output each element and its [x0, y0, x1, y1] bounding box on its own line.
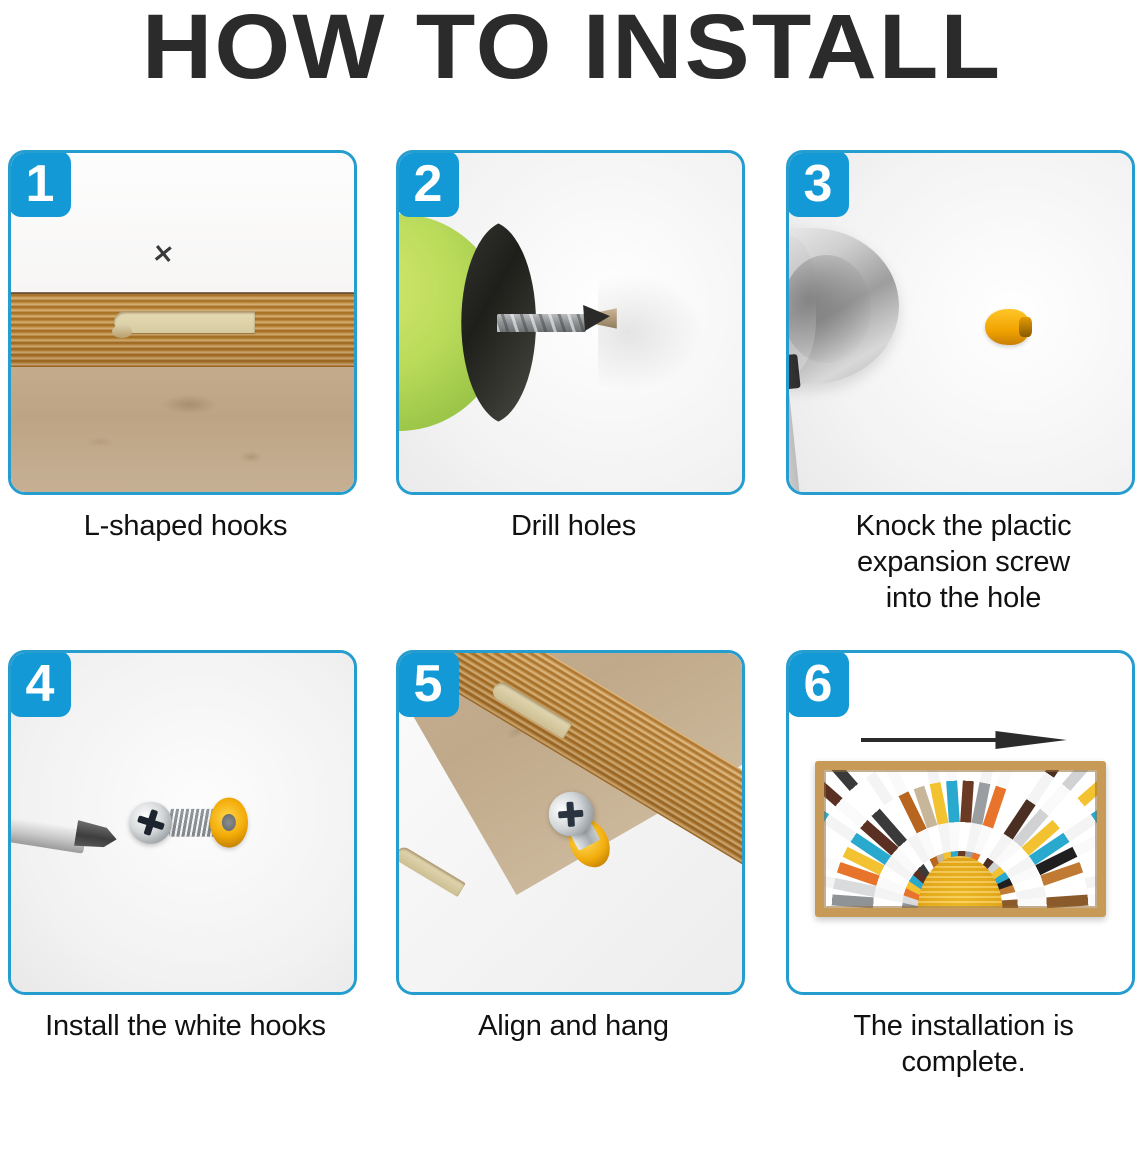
- phillips-cross-icon: [134, 806, 167, 839]
- yellow-wall-anchor-icon: [210, 797, 248, 848]
- step-badge-6: 6: [787, 651, 849, 717]
- step-panel-3: 3: [786, 150, 1135, 495]
- step-card-3: 3 Knock the plactic expansion screw into…: [786, 150, 1141, 617]
- step-caption-4: Install the white hooks: [8, 1009, 363, 1045]
- frame-backboard: [11, 367, 354, 492]
- step-caption-1: L-shaped hooks: [8, 509, 363, 545]
- step-badge-1: 1: [9, 151, 71, 217]
- step-badge-3: 3: [787, 151, 849, 217]
- step-card-5: 5 Align and hang: [396, 650, 751, 1045]
- caption-line: complete.: [786, 1045, 1141, 1081]
- x-mark-icon: ×: [150, 237, 176, 270]
- step-card-4: 4 Install the white hooks: [8, 650, 363, 1045]
- how-to-install-infographic: HOW TO INSTALL × 1 L-shaped hooks: [0, 0, 1144, 1082]
- step-badge-4: 4: [9, 651, 71, 717]
- drill-shadow: [598, 275, 701, 390]
- drill-bit-tip: [583, 303, 611, 331]
- step-caption-2: Drill holes: [396, 509, 751, 545]
- steps-row-1: × 1 L-shaped hooks: [0, 150, 1144, 650]
- steps-grid: × 1 L-shaped hooks: [0, 150, 1144, 1150]
- step-caption-5: Align and hang: [396, 1009, 751, 1045]
- step-card-2: 2 Drill holes: [396, 150, 751, 545]
- caption-line: into the hole: [786, 581, 1141, 617]
- step-badge-5: 5: [397, 651, 459, 717]
- caption-line: expansion screw: [786, 545, 1141, 581]
- step-panel-2: 2: [396, 150, 745, 495]
- step-card-6: 6 The installation is complete.: [786, 650, 1141, 1081]
- caption-line: The installation is: [786, 1009, 1141, 1045]
- step-card-1: × 1 L-shaped hooks: [8, 150, 363, 545]
- yellow-wall-anchor-icon: [985, 309, 1030, 345]
- direction-arrow-icon: [861, 729, 1067, 751]
- step-panel-5: 5: [396, 650, 745, 995]
- drill-bit-icon: [497, 314, 586, 332]
- screw-head-icon: [129, 801, 172, 843]
- framed-sunburst-artwork: [815, 761, 1107, 917]
- keyhole-slot: [114, 311, 255, 333]
- step-caption-6: The installation is complete.: [786, 1009, 1141, 1081]
- step-badge-2: 2: [397, 151, 459, 217]
- step-caption-3: Knock the plactic expansion screw into t…: [786, 509, 1141, 617]
- step-panel-1: × 1: [8, 150, 357, 495]
- caption-line: Knock the plactic: [786, 509, 1141, 545]
- step-panel-6: 6: [786, 650, 1135, 995]
- steps-row-2: 4 Install the white hooks: [0, 650, 1144, 1150]
- step-panel-4: 4: [8, 650, 357, 995]
- page-title: HOW TO INSTALL: [0, 0, 1144, 97]
